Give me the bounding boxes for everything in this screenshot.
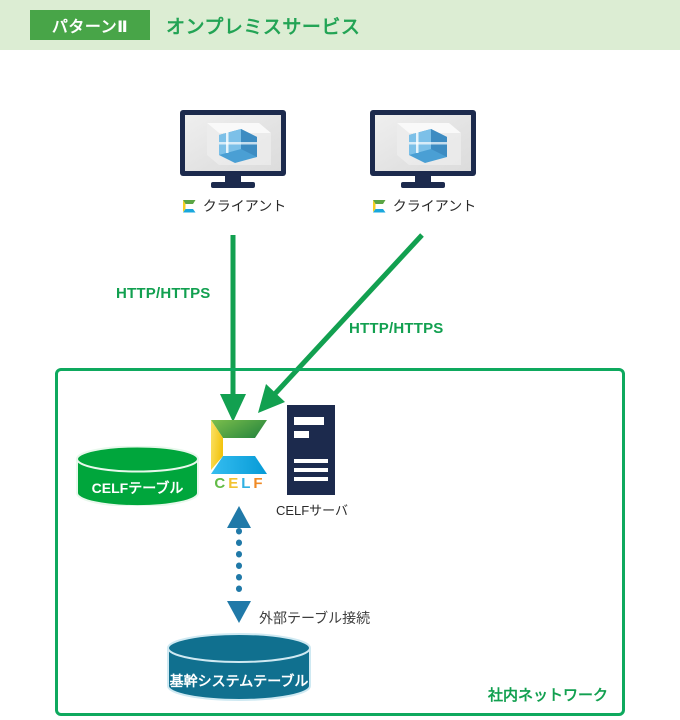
server-bar xyxy=(294,468,328,472)
monitor-icon xyxy=(180,110,286,188)
server-bar xyxy=(294,431,309,438)
celf-server-label: CELFサーバ xyxy=(262,500,362,519)
client-node-2: クライアント xyxy=(353,110,493,216)
celf-wordmark: CELF xyxy=(203,475,277,492)
screen-cube-icon xyxy=(375,115,471,171)
celf-letter-f: F xyxy=(253,475,265,492)
database-cylinder-icon xyxy=(166,633,312,701)
celf-logo-icon xyxy=(370,197,387,215)
database-cylinder-icon xyxy=(75,446,200,506)
monitor-icon xyxy=(370,110,476,188)
client-node-1: クライアント xyxy=(163,110,303,216)
client-label-row: クライアント xyxy=(353,196,493,216)
flow-label-http-2: HTTP/HTTPS xyxy=(349,320,444,337)
monitor-base xyxy=(401,182,445,188)
screen-cube-icon xyxy=(185,115,281,171)
server-bar xyxy=(294,459,328,463)
flow-label-http-1: HTTP/HTTPS xyxy=(116,285,211,302)
pattern-badge: パターンⅡ xyxy=(30,10,150,40)
celf-letter-c: C xyxy=(214,475,228,492)
internal-network-label: 社内ネットワーク xyxy=(488,684,608,705)
celf-letter-l: L xyxy=(241,475,253,492)
architecture-diagram: クライアント クラ xyxy=(0,50,680,720)
internal-network-box: 社内ネットワーク xyxy=(55,368,625,716)
server-bar xyxy=(294,417,324,425)
client-label-row: クライアント xyxy=(163,196,303,216)
external-connection-label: 外部テーブル接続 xyxy=(259,608,370,628)
page-title: オンプレミスサービス xyxy=(166,10,360,40)
system-table-node: 基幹システムテーブル xyxy=(166,633,312,701)
server-bar xyxy=(294,477,328,481)
client-label: クライアント xyxy=(393,196,476,216)
celf-logo-icon xyxy=(180,197,197,215)
client-label: クライアント xyxy=(203,196,286,216)
celf-table-node: CELFテーブル xyxy=(75,446,200,506)
monitor-base xyxy=(211,182,255,188)
celf-letter-e: E xyxy=(228,475,241,492)
celf-server-node xyxy=(287,405,335,495)
